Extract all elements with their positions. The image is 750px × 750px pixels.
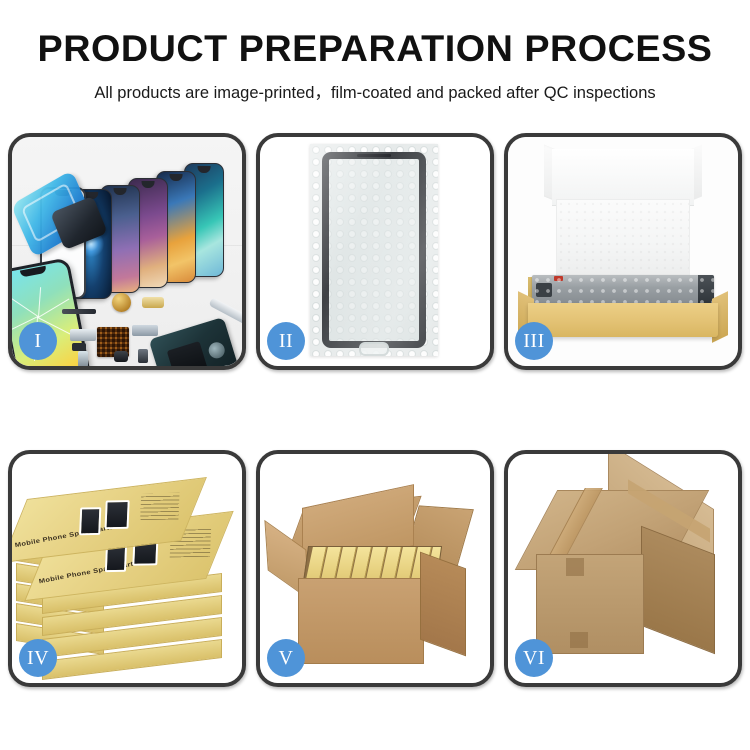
carton-hand-hole-upper: [566, 558, 584, 576]
packed-screen-unit: [532, 275, 714, 305]
screen-connector: [536, 283, 552, 297]
step-badge-6: VI: [515, 639, 553, 677]
carton-side-panel: [420, 552, 466, 657]
step-badge-3: III: [515, 322, 553, 360]
camera-module-part-2: [138, 349, 148, 363]
box-back-wall: [552, 149, 694, 206]
flex-cable-part-c: [142, 297, 164, 308]
carton-front-face: [536, 554, 644, 654]
battery-connector-part: [78, 351, 88, 366]
step-card-4: Mobile Phone Spare Parts Mobile Phone Sp…: [8, 450, 246, 687]
camera-module-part: [114, 351, 128, 362]
process-steps-grid: I II: [8, 133, 742, 687]
step-badge-1: I: [19, 322, 57, 360]
step-badge-5: V: [267, 639, 305, 677]
box-front-panel: [528, 303, 718, 337]
home-button-cutout: [359, 342, 389, 356]
box-checklist-lines-upper: [140, 493, 179, 520]
step-badge-4: IV: [19, 639, 57, 677]
flex-cable-part-a: [70, 329, 96, 341]
step-badge-2: II: [267, 322, 305, 360]
antenna-strip-part: [62, 309, 96, 314]
step-card-1: I: [8, 133, 246, 370]
speaker-mesh-part: [112, 293, 131, 312]
step-card-3: III: [504, 133, 742, 370]
carton-hand-hole-lower: [570, 632, 588, 648]
foam-texture: [557, 200, 689, 278]
step-card-5: V: [256, 450, 494, 687]
page-title: PRODUCT PREPARATION PROCESS: [0, 30, 750, 69]
box-product-thumb-4: [105, 500, 130, 529]
box-product-thumb-3: [79, 507, 101, 535]
page-subtitle: All products are image-printed，film-coat…: [0, 79, 750, 103]
vibration-motor-part: [72, 343, 86, 351]
flex-cable-part-b: [132, 325, 158, 336]
page-header: PRODUCT PREPARATION PROCESS All products…: [0, 0, 750, 103]
red-label-tab: [554, 276, 563, 281]
phone-front-glass: [322, 152, 426, 348]
carton-front-panel: [298, 578, 424, 664]
box-foam-lining: [556, 199, 690, 279]
step-card-2: II: [256, 133, 494, 370]
step-card-6: VI: [504, 450, 742, 687]
bubble-wrap-sheet: [310, 144, 438, 356]
